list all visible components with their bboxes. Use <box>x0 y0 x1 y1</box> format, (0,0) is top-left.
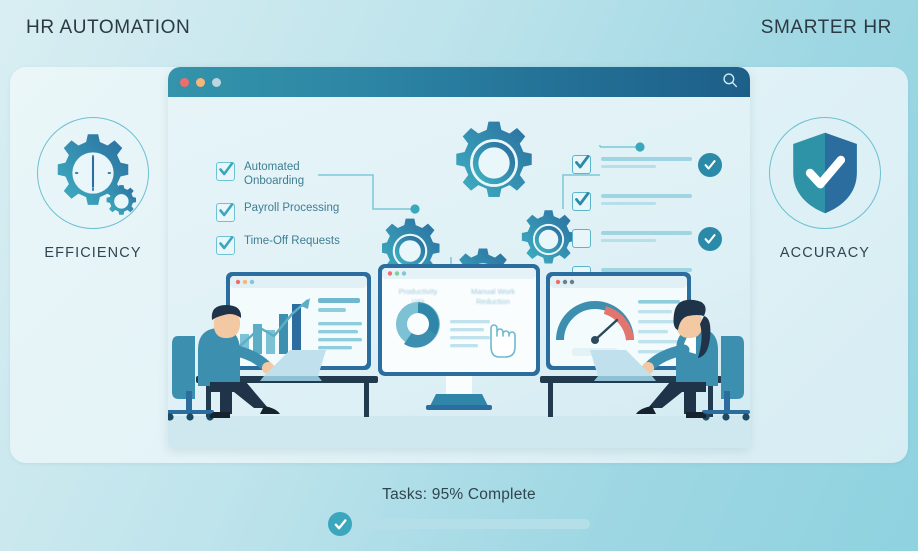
svg-text:Reduction: Reduction <box>476 297 510 306</box>
checkbox-empty-icon[interactable] <box>572 229 591 248</box>
progress-bar-wrap <box>328 512 590 536</box>
browser-titlebar <box>168 67 750 97</box>
close-dot[interactable] <box>180 78 189 87</box>
browser-window: Automated Onboarding Payroll Processing <box>168 67 750 448</box>
feature-checklist: Automated Onboarding Payroll Processing <box>216 161 344 268</box>
check-circle-icon <box>698 153 722 177</box>
accuracy-ring <box>769 117 881 229</box>
shield-check-icon <box>786 130 864 216</box>
browser-viewport: Automated Onboarding Payroll Processing <box>168 97 750 448</box>
svg-text:Data: Data <box>412 299 425 305</box>
header-right-title: SMARTER HR <box>761 17 892 39</box>
task-row-lines <box>601 194 692 208</box>
center-label-right: Manual Work <box>471 287 515 296</box>
checkbox-checked-icon[interactable] <box>572 192 591 211</box>
checkbox-checked-icon[interactable] <box>572 155 591 174</box>
minimize-dot[interactable] <box>196 78 205 87</box>
check-circle-icon <box>698 227 722 251</box>
task-row-lines <box>601 231 692 245</box>
maximize-dot[interactable] <box>212 78 221 87</box>
task-row-lines <box>601 157 692 171</box>
checklist-item-label: Automated Onboarding <box>244 161 344 188</box>
feature-accuracy: ACCURACY <box>750 117 900 261</box>
checkbox-checked-icon[interactable] <box>216 236 235 255</box>
task-row[interactable] <box>572 227 722 250</box>
check-circle-icon <box>328 512 352 536</box>
task-row[interactable] <box>572 190 722 213</box>
progress-track[interactable] <box>361 519 590 529</box>
checklist-item[interactable]: Payroll Processing <box>216 202 344 221</box>
gear-right <box>522 210 575 263</box>
efficiency-ring <box>37 117 149 229</box>
progress-footer: Tasks: 95% Complete <box>0 486 918 536</box>
checklist-item-label: Time-Off Requests <box>244 235 340 249</box>
search-icon[interactable] <box>722 72 738 93</box>
office-scene: Productivity Data Manual Work Reduction <box>168 258 750 448</box>
gear-main <box>456 122 531 197</box>
gear-clock-icon <box>50 130 136 216</box>
poster-stage: HR AUTOMATION SMARTER HR <box>0 0 918 551</box>
center-label-left: Productivity <box>399 287 438 296</box>
checklist-item[interactable]: Time-Off Requests <box>216 235 344 254</box>
center-monitor: Productivity Data Manual Work Reduction <box>378 264 540 410</box>
feature-accuracy-label: ACCURACY <box>750 245 900 261</box>
header-left-title: HR AUTOMATION <box>26 17 190 39</box>
checkbox-checked-icon[interactable] <box>216 203 235 222</box>
checklist-item[interactable]: Automated Onboarding <box>216 161 344 188</box>
feature-efficiency: EFFICIENCY <box>18 117 168 261</box>
checklist-item-label: Payroll Processing <box>244 202 339 216</box>
checkbox-checked-icon[interactable] <box>216 162 235 181</box>
task-row[interactable] <box>572 153 722 176</box>
progress-status-text: Tasks: 95% Complete <box>0 486 918 504</box>
feature-efficiency-label: EFFICIENCY <box>18 245 168 261</box>
